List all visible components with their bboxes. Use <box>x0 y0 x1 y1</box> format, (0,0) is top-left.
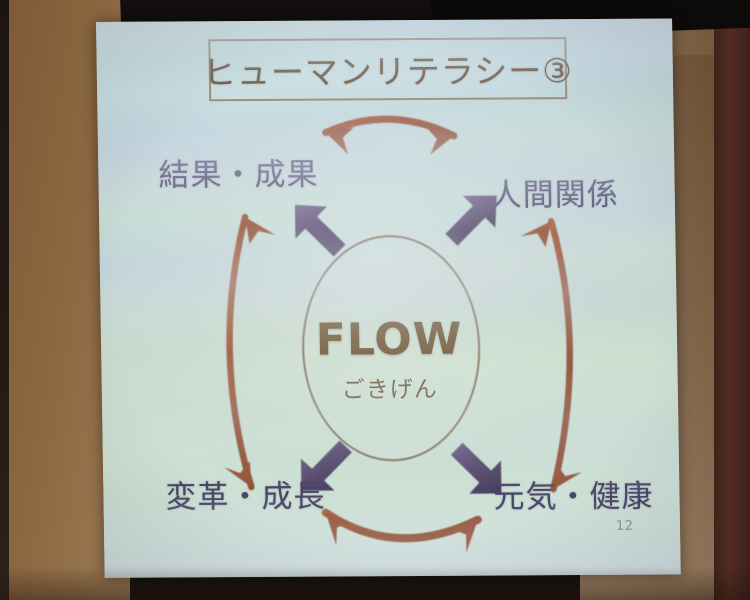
slide-title: ヒューマンリテラシー③ <box>202 44 573 94</box>
photo-scene: ヒューマンリテラシー③ 結果・成果 人間関係 変革・成長 元気・健康 FLOW … <box>0 0 750 600</box>
arc-arrow-top <box>326 119 455 156</box>
center-primary-text: FLOW <box>101 312 678 367</box>
arc-arrow-bottom <box>326 512 479 554</box>
quadrant-label-top-right: 人間関係 <box>490 169 619 215</box>
quadrant-label-top-left: 結果・成果 <box>158 149 319 195</box>
center-secondary-text: ごきげん <box>101 368 678 406</box>
block-arrow-top-right <box>445 196 498 246</box>
block-arrow-top-left <box>295 204 346 256</box>
floor-shadow <box>0 566 750 600</box>
wall-right-dark-strip <box>714 0 750 600</box>
slide-title-box: ヒューマンリテラシー③ <box>208 37 567 101</box>
wall-left-edge <box>0 0 9 600</box>
quadrant-label-bottom-right: 元気・健康 <box>493 471 654 517</box>
page-number: 12 <box>616 519 634 534</box>
quadrant-label-bottom-left: 変革・成長 <box>165 471 326 517</box>
presentation-slide: ヒューマンリテラシー③ 結果・成果 人間関係 変革・成長 元気・健康 FLOW … <box>96 18 681 577</box>
projection-screen: ヒューマンリテラシー③ 結果・成果 人間関係 変革・成長 元気・健康 FLOW … <box>96 18 681 577</box>
